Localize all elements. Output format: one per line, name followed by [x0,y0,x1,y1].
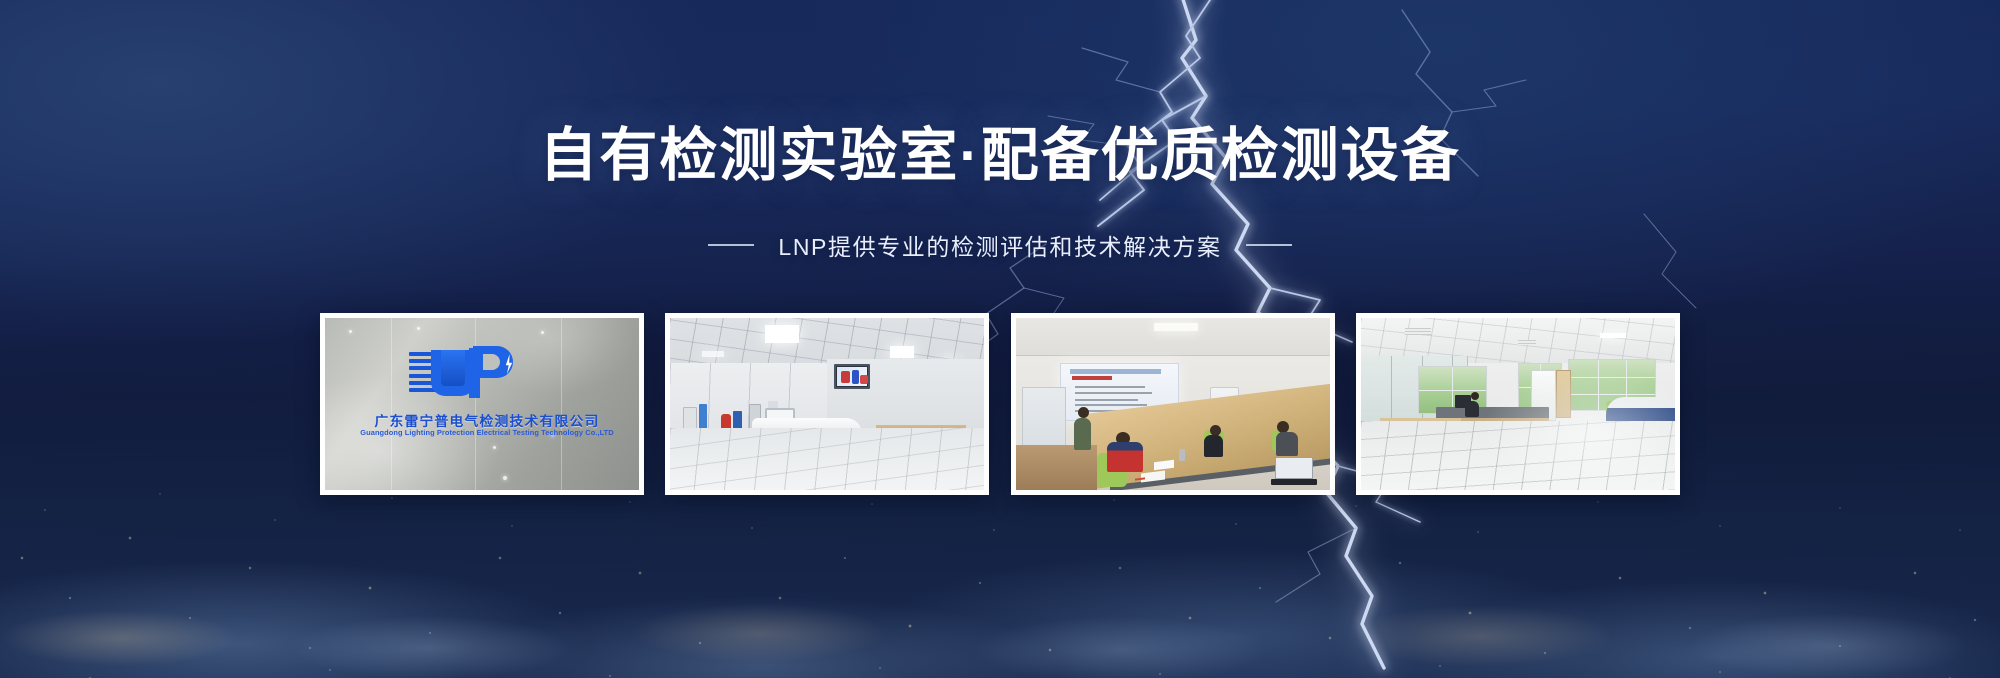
gallery-item-office[interactable] [1356,313,1680,495]
attendee-middle [1204,435,1223,457]
wall-monitor [834,364,870,389]
photo-office [1361,318,1675,490]
dash-right-decoration [1246,244,1292,246]
page-subtitle: LNP提供专业的检测评估和技术解决方案 [778,228,1221,262]
wall-sheen [325,318,639,490]
page-title: 自有检测实验室·配备优质检测设备 [0,108,2000,192]
gallery-item-test-lab[interactable] [665,313,989,495]
subtitle-row: LNP提供专业的检测评估和技术解决方案 [0,228,2000,262]
attendee-red-jacket [1107,442,1143,472]
photo-gallery: 广东雷宁普电气检测技术有限公司 Guangdong Lighting Prote… [320,313,1680,495]
company-name-cn: 广东雷宁普电气检测技术有限公司 [344,410,630,430]
lnp-logo-icon [409,346,525,400]
gallery-item-company-sign[interactable]: 广东雷宁普电气检测技术有限公司 Guangdong Lighting Prote… [320,313,644,495]
ceiling-light [1154,323,1198,331]
dash-left-decoration [708,244,754,246]
logo-letter-p-counter [483,354,500,370]
hero-banner: 自有检测实验室·配备优质检测设备 LNP提供专业的检测评估和技术解决方案 [0,0,2000,678]
gallery-item-training-meeting[interactable] [1011,313,1335,495]
sunlight-glow [1361,318,1675,490]
photo-company-sign: 广东雷宁普电气检测技术有限公司 Guangdong Lighting Prote… [325,318,639,490]
company-name-en: Guangdong Lighting Protection Electrical… [347,428,627,437]
presenter-body [1074,418,1091,450]
meeting-floor [1016,445,1098,490]
lab-floor [670,428,984,490]
attendee-head [1210,425,1221,436]
photo-test-lab [670,318,984,490]
laptop [1271,457,1317,485]
photo-training-meeting [1016,318,1330,490]
attendee-right [1276,432,1298,456]
